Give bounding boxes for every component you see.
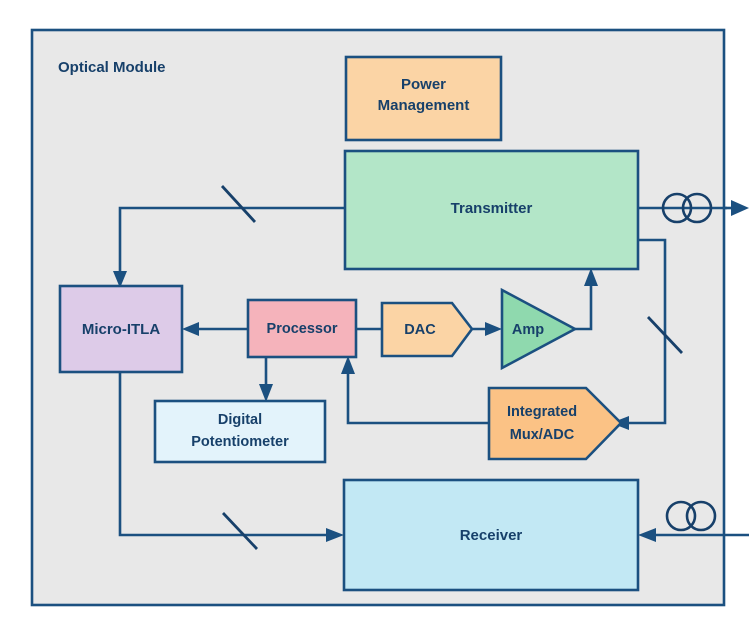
block-power-management[interactable] [346, 57, 501, 140]
block-micro-itla[interactable] [60, 286, 182, 372]
optical-module-diagram: Optical Module [0, 0, 749, 633]
block-diagram-canvas: Optical Module [0, 0, 749, 633]
block-receiver[interactable] [344, 480, 638, 590]
block-digital-potentiometer[interactable] [155, 401, 325, 462]
arrowhead-transmitter-optical-out [731, 200, 749, 216]
block-transmitter[interactable] [345, 151, 638, 269]
block-dac[interactable] [382, 303, 472, 356]
block-processor[interactable] [248, 300, 356, 357]
module-title: Optical Module [58, 59, 166, 76]
